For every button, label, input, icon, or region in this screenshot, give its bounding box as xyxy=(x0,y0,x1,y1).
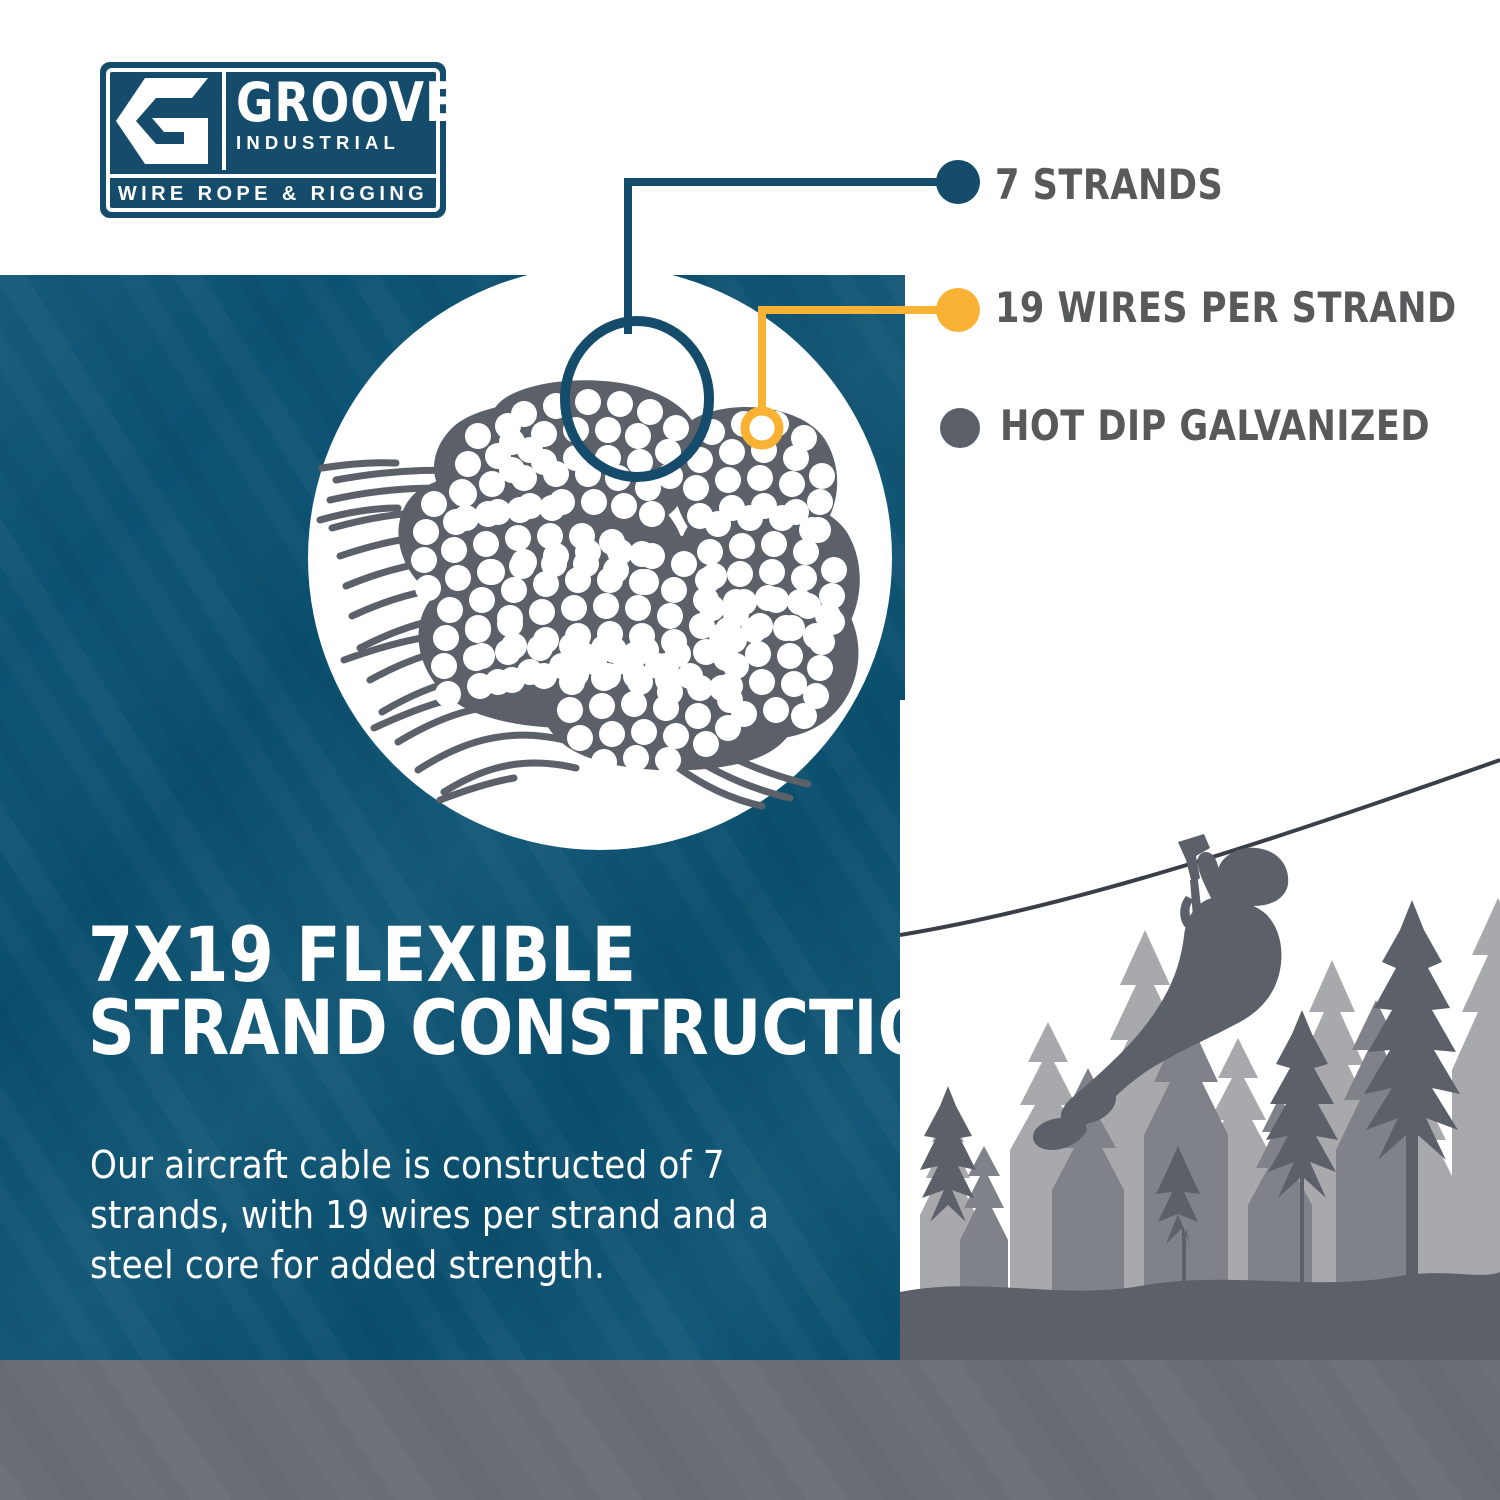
panel-title-line-2: STRAND CONSTRUCTION xyxy=(88,991,839,1064)
callout-label-strands: 7 STRANDS xyxy=(995,164,1223,206)
panel-title-line-1: 7X19 FLEXIBLE xyxy=(88,918,839,991)
logo-divider xyxy=(222,72,226,170)
marker-dot-wires xyxy=(936,288,980,332)
callout-label-wires-per-strand: 19 WIRES PER STRAND xyxy=(995,287,1457,329)
logo-wordmark: GROOVE INDUSTRIAL xyxy=(236,76,428,153)
logo-name: GROOVE xyxy=(236,76,416,130)
logo-rule xyxy=(110,174,436,178)
logo-subtitle: INDUSTRIAL xyxy=(236,133,428,153)
marker-dot-strands xyxy=(936,160,980,204)
groove-g-monogram-icon xyxy=(112,74,216,168)
marker-dot-galvanized xyxy=(940,408,980,448)
logo-tagline: WIRE ROPE & RIGGING xyxy=(110,180,436,208)
wire-marker-ring xyxy=(745,411,779,445)
callout-label-hot-dip-galvanized: HOT DIP GALVANIZED xyxy=(1000,405,1430,447)
infographic-page: GROOVE INDUSTRIAL WIRE ROPE & RIGGING 7 … xyxy=(0,0,1500,1500)
panel-title: 7X19 FLEXIBLE STRAND CONSTRUCTION xyxy=(88,918,839,1064)
brand-logo[interactable]: GROOVE INDUSTRIAL WIRE ROPE & RIGGING xyxy=(100,62,446,218)
zipline-forest-scene xyxy=(900,700,1500,1360)
bottom-band xyxy=(0,1360,1500,1500)
panel-body-text: Our aircraft cable is constructed of 7 s… xyxy=(90,1140,780,1290)
